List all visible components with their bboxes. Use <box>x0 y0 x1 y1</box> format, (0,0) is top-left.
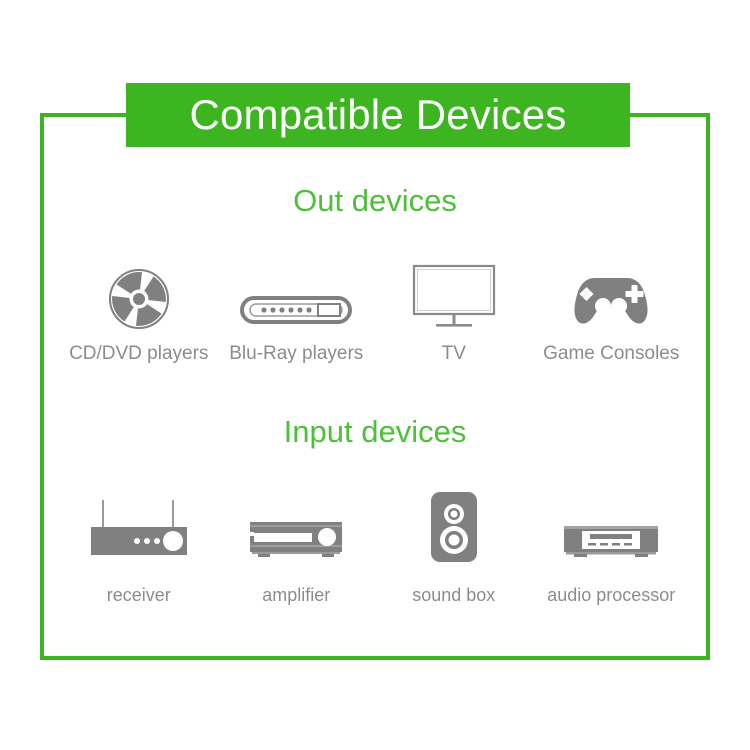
device-item-receiver: receiver <box>60 486 218 604</box>
page-title: Compatible Devices <box>189 94 566 136</box>
section-heading-out-devices: Out devices <box>0 185 750 216</box>
gamepad-icon <box>569 258 653 330</box>
device-item-sound-box: sound box <box>375 486 533 604</box>
device-label: Game Consoles <box>543 344 679 363</box>
television-icon <box>412 258 496 330</box>
blu-ray-player-icon <box>240 258 352 330</box>
device-label: TV <box>442 344 466 363</box>
out-devices-row: CD/DVD players Blu-Ray players <box>60 248 690 363</box>
section-heading-input-devices: Input devices <box>0 416 750 447</box>
device-item-cd-dvd-players: CD/DVD players <box>60 248 218 363</box>
av-receiver-icon <box>85 492 193 564</box>
speaker-icon <box>429 492 479 564</box>
device-item-amplifier: amplifier <box>218 486 376 604</box>
input-devices-row: receiver amplifier <box>60 486 690 604</box>
device-label: receiver <box>107 586 171 604</box>
audio-processor-icon <box>560 492 662 564</box>
device-item-blu-ray-players: Blu-Ray players <box>218 248 376 363</box>
device-label: audio processor <box>547 586 675 604</box>
device-label: sound box <box>412 586 495 604</box>
compact-disc-icon <box>108 258 170 330</box>
device-item-game-consoles: Game Consoles <box>533 248 691 363</box>
device-label: CD/DVD players <box>69 344 208 363</box>
device-label: Blu-Ray players <box>229 344 363 363</box>
device-label: amplifier <box>262 586 330 604</box>
amplifier-icon <box>246 492 346 564</box>
compatible-devices-poster: Compatible Devices Out devices CD/DVD pl… <box>0 0 750 750</box>
title-banner: Compatible Devices <box>126 83 630 147</box>
device-item-tv: TV <box>375 248 533 363</box>
device-item-audio-processor: audio processor <box>533 486 691 604</box>
